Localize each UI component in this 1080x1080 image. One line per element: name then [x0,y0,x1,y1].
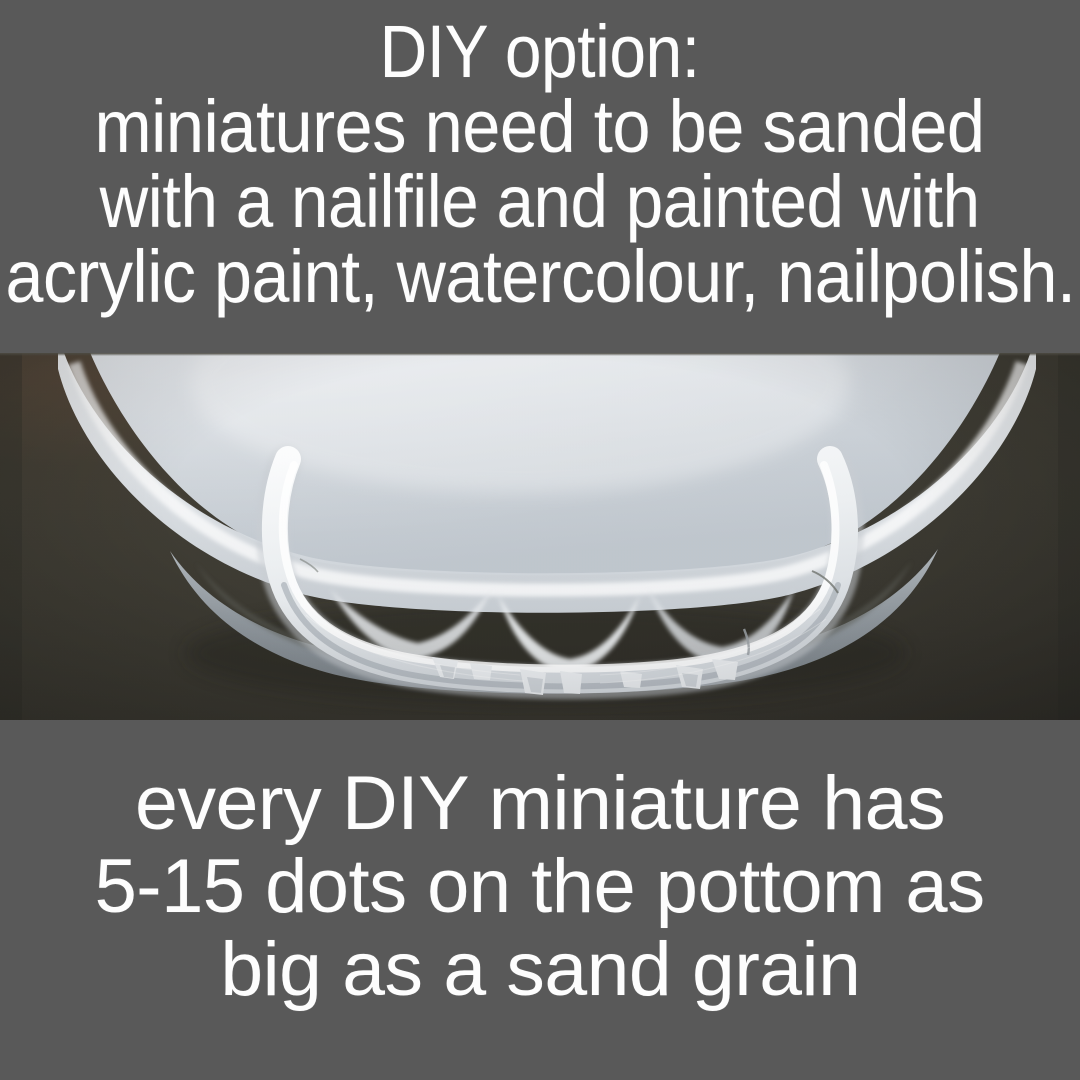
caption-top: DIY option: miniatures need to be sanded… [0,0,1080,353]
caption-bottom-line-2: 5-15 dots on the pottom as [95,851,985,924]
caption-top-line-4: acrylic paint, watercolour, nailpolish. [5,241,1075,312]
caption-bottom-line-3: big as a sand grain [220,934,860,1007]
caption-bottom-line-1: every DIY miniature has [135,768,945,841]
miniature-photo [0,353,1080,720]
caption-bottom: every DIY miniature has 5-15 dots on the… [0,720,1080,1080]
miniature-object-illustration [0,353,1080,720]
meme-image: DIY option: miniatures need to be sanded… [0,0,1080,1080]
caption-top-line-1: DIY option: [380,16,700,87]
caption-top-line-2: miniatures need to be sanded [95,91,985,162]
caption-top-line-3: with a nailfile and painted with [100,166,980,237]
